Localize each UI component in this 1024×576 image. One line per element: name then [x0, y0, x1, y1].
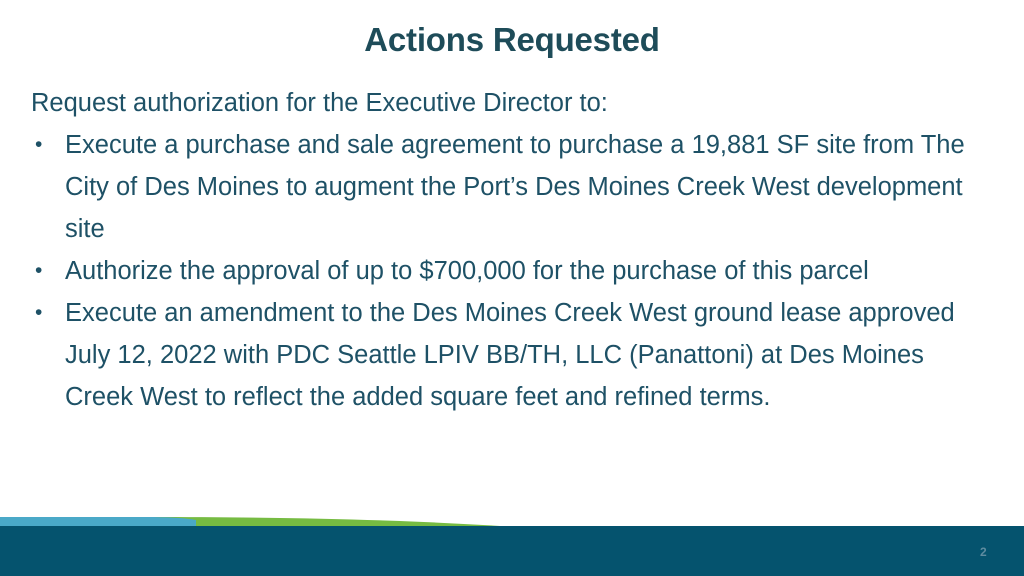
- slide-body: Request authorization for the Executive …: [31, 82, 989, 418]
- slide: Actions Requested Request authorization …: [0, 0, 1024, 576]
- footer-wave-graphic: [0, 495, 1024, 576]
- bullet-point-icon: •: [35, 124, 51, 166]
- list-item-text: Execute a purchase and sale agreement to…: [65, 124, 989, 250]
- page-title: Actions Requested: [0, 21, 1024, 59]
- page-number: 2: [980, 545, 987, 559]
- list-item-text: Execute an amendment to the Des Moines C…: [65, 292, 989, 418]
- footer-base-bar: [0, 526, 1024, 576]
- bullet-point-icon: •: [35, 250, 51, 292]
- list-item: • Execute a purchase and sale agreement …: [31, 124, 989, 250]
- slide-footer-decoration: 2: [0, 495, 1024, 576]
- list-item: • Authorize the approval of up to $700,0…: [31, 250, 989, 292]
- bullet-point-icon: •: [35, 292, 51, 334]
- bullet-list: • Execute a purchase and sale agreement …: [31, 124, 989, 418]
- list-item: • Execute an amendment to the Des Moines…: [31, 292, 989, 418]
- list-item-text: Authorize the approval of up to $700,000…: [65, 250, 989, 292]
- intro-text: Request authorization for the Executive …: [31, 82, 989, 124]
